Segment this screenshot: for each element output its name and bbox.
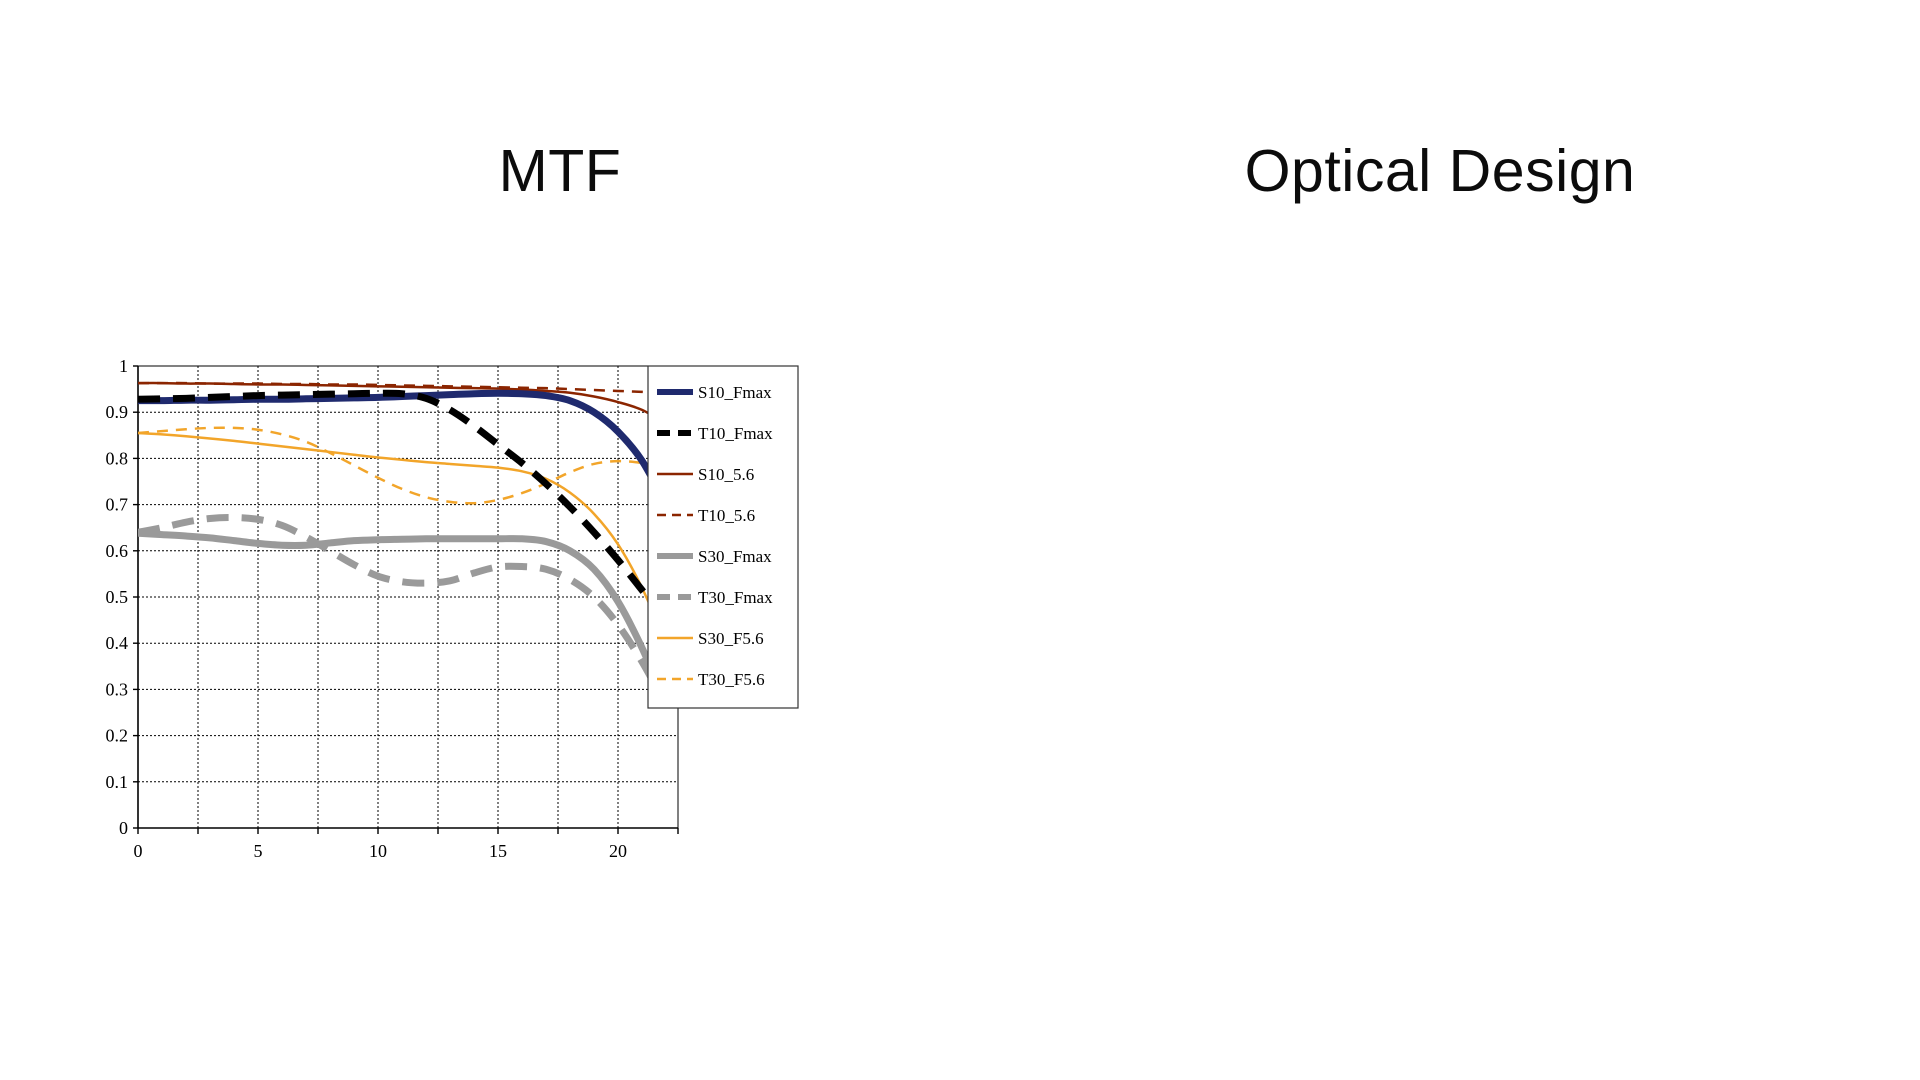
mtf-chart: 00.10.20.30.40.50.60.70.80.9105101520S10… bbox=[80, 352, 800, 902]
x-tick-label: 15 bbox=[489, 841, 507, 861]
chart-legend-label: T10_5.6 bbox=[698, 506, 755, 525]
x-tick-label: 20 bbox=[609, 841, 627, 861]
chart-legend-label: S30_Fmax bbox=[698, 547, 772, 566]
chart-legend-box bbox=[648, 366, 798, 708]
chart-legend: S10_FmaxT10_FmaxS10_5.6T10_5.6S30_FmaxT3… bbox=[648, 366, 798, 708]
y-tick-label: 0.3 bbox=[106, 679, 129, 699]
optical-design-panel-title: Optical Design bbox=[480, 142, 1920, 201]
chart-legend-label: T10_Fmax bbox=[698, 424, 773, 443]
y-tick-label: 0.4 bbox=[106, 633, 129, 653]
y-tick-label: 0.2 bbox=[106, 726, 129, 746]
chart-legend-label: S10_5.6 bbox=[698, 465, 754, 484]
mtf-chart-svg: 00.10.20.30.40.50.60.70.80.9105101520S10… bbox=[80, 352, 800, 902]
y-tick-label: 0.8 bbox=[106, 448, 129, 468]
y-tick-label: 0.7 bbox=[106, 495, 129, 515]
x-tick-label: 5 bbox=[254, 841, 263, 861]
chart-legend-label: S10_Fmax bbox=[698, 383, 772, 402]
y-tick-label: 0.6 bbox=[106, 541, 129, 561]
chart-legend-label: T30_F5.6 bbox=[698, 670, 765, 689]
y-tick-label: 0.1 bbox=[106, 772, 129, 792]
x-tick-label: 0 bbox=[134, 841, 143, 861]
chart-legend-label: S30_F5.6 bbox=[698, 629, 764, 648]
x-tick-label: 10 bbox=[369, 841, 387, 861]
y-tick-label: 0.5 bbox=[106, 587, 129, 607]
y-tick-label: 1 bbox=[119, 356, 128, 376]
optical-design-panel: Optical Design Dispersive lensHigh index… bbox=[960, 0, 1920, 1080]
y-tick-label: 0.9 bbox=[106, 402, 129, 422]
chart-legend-label: T30_Fmax bbox=[698, 588, 773, 607]
y-tick-label: 0 bbox=[119, 818, 128, 838]
